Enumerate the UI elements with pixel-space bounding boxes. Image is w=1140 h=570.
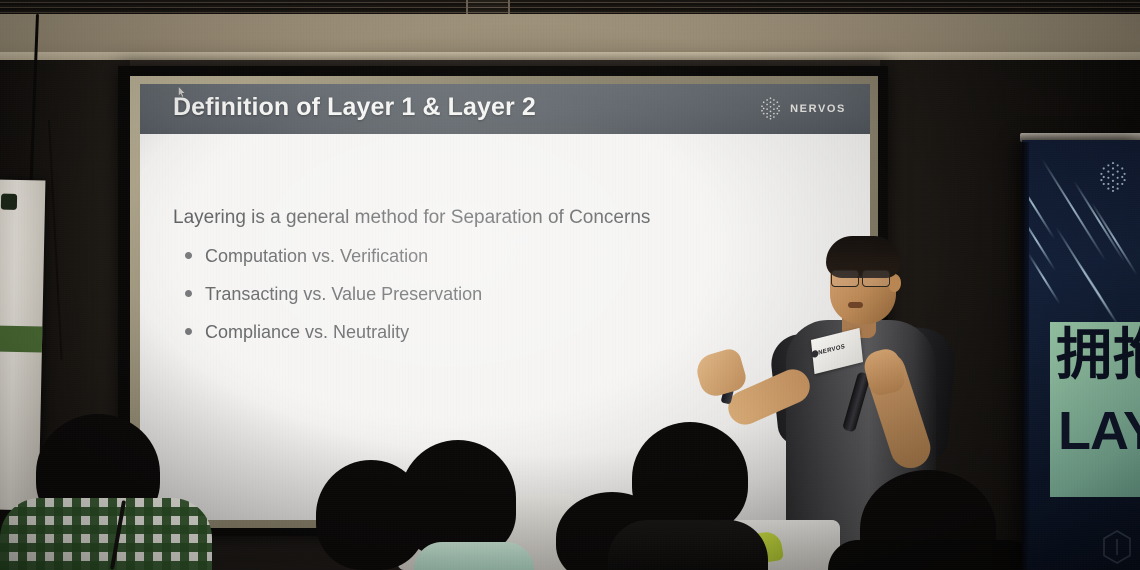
ceiling-louvers (0, 0, 1140, 14)
bullet-text: Compliance vs. Neutrality (205, 322, 409, 343)
bullet-dot-icon (185, 252, 192, 259)
presenter-mouth (848, 302, 863, 308)
right-banner-edge (1022, 142, 1029, 570)
glasses-lens-right (862, 270, 890, 287)
audience-shirt-dark (828, 540, 1038, 570)
presentation-photo-scene: Definition of Layer 1 & Layer 2 (0, 0, 1140, 570)
hexagon-lattice-icon (1096, 160, 1130, 194)
audience-shirt-checkered (0, 498, 212, 570)
list-item: Computation vs. Verification (180, 246, 482, 267)
left-banner-mark-icon (1, 194, 17, 210)
glasses-lens-left (831, 270, 859, 287)
mic-flag-text: NERVOS (818, 344, 845, 357)
ceiling-vent (466, 0, 510, 14)
slide-title-bar: Definition of Layer 1 & Layer 2 (140, 84, 870, 134)
slide-lede: Layering is a general method for Separat… (173, 207, 650, 229)
audience-head (400, 440, 516, 556)
audience-shirt-dark (608, 520, 768, 570)
slide-title: Definition of Layer 1 & Layer 2 (173, 93, 536, 122)
bullet-text: Computation vs. Verification (205, 246, 428, 267)
nervos-hexagon-lattice-icon (758, 96, 783, 121)
audience-head (632, 422, 748, 534)
slide-brand: NERVOS (758, 96, 846, 121)
banner-headline-cn: 拥抱 (1056, 325, 1140, 387)
glasses-icon (829, 270, 899, 286)
audience-shirt-mint (414, 542, 534, 570)
hexagon-outline-icon (1102, 530, 1132, 564)
bullet-text: Transacting vs. Value Preservation (205, 284, 482, 305)
list-item: Compliance vs. Neutrality (180, 322, 482, 343)
right-banner: 拥抱 LAY (1022, 140, 1140, 570)
bullet-dot-icon (185, 290, 192, 297)
brand-name: NERVOS (790, 103, 846, 115)
bullet-dot-icon (185, 328, 192, 335)
upper-wall-band (0, 14, 1140, 60)
list-item: Transacting vs. Value Preservation (180, 284, 482, 305)
banner-headline-latin: LAY (1058, 402, 1140, 460)
slide-bullet-list: Computation vs. Verification Transacting… (180, 246, 482, 360)
left-banner-stripe (0, 326, 42, 353)
